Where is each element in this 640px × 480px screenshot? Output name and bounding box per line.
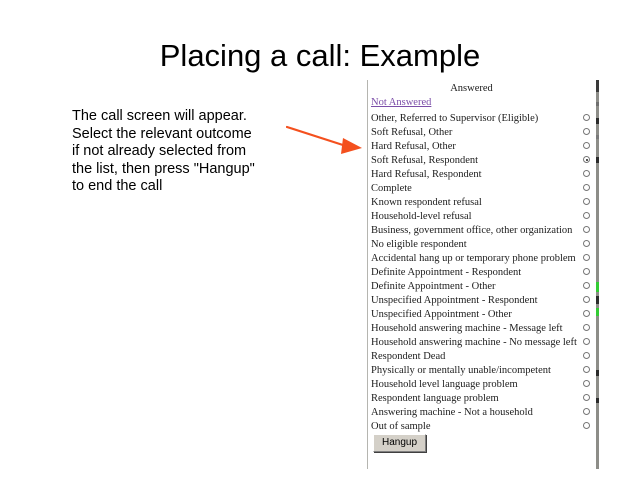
outcome-row[interactable]: Respondent language problem: [368, 390, 597, 404]
outcome-row[interactable]: Answering machine - Not a household: [368, 404, 597, 418]
outcome-radio-button[interactable]: [583, 114, 590, 121]
scrollbar-mark: [596, 118, 599, 124]
outcome-radio-button[interactable]: [583, 170, 590, 177]
outcome-row[interactable]: Soft Refusal, Respondent: [368, 152, 597, 166]
outcome-row[interactable]: Household answering machine - Message le…: [368, 320, 597, 334]
outcome-row[interactable]: Household-level refusal: [368, 208, 597, 222]
outcome-row[interactable]: Known respondent refusal: [368, 194, 597, 208]
outcome-label: Definite Appointment - Respondent: [371, 267, 521, 278]
outcome-radio-button[interactable]: [583, 296, 590, 303]
outcome-row[interactable]: Household answering machine - No message…: [368, 334, 597, 348]
outcome-radio-button[interactable]: [583, 408, 590, 415]
outcome-row[interactable]: Hard Refusal, Respondent: [368, 166, 597, 180]
outcome-radio-button[interactable]: [583, 128, 590, 135]
outcome-label: Household level language problem: [371, 379, 518, 390]
outcome-row[interactable]: Physically or mentally unable/incompeten…: [368, 362, 597, 376]
outcome-label: Hard Refusal, Respondent: [371, 169, 482, 180]
outcome-row[interactable]: Other, Referred to Supervisor (Eligible): [368, 110, 597, 124]
outcome-row[interactable]: Unspecified Appointment - Respondent: [368, 292, 597, 306]
outcome-row[interactable]: Respondent Dead: [368, 348, 597, 362]
outcome-row[interactable]: Out of sample: [368, 418, 597, 432]
outcome-label: Known respondent refusal: [371, 197, 482, 208]
call-outcome-screen: Answered Not Answered Other, Referred to…: [367, 80, 598, 469]
outcome-radio-button[interactable]: [583, 282, 590, 289]
outcome-label: Unspecified Appointment - Other: [371, 309, 512, 320]
outcome-label: No eligible respondent: [371, 239, 467, 250]
outcome-label: Hard Refusal, Other: [371, 141, 456, 152]
slide-canvas: Placing a call: Example The call screen …: [0, 0, 640, 480]
outcome-label: Business, government office, other organ…: [371, 225, 572, 236]
outcome-label: Out of sample: [371, 421, 431, 432]
outcome-label: Physically or mentally unable/incompeten…: [371, 365, 551, 376]
outcome-row[interactable]: Definite Appointment - Other: [368, 278, 597, 292]
instruction-text: The call screen will appear. Select the …: [72, 108, 284, 196]
outcome-label: Definite Appointment - Other: [371, 281, 496, 292]
outcome-row[interactable]: Accidental hang up or temporary phone pr…: [368, 250, 597, 264]
outcome-list: Other, Referred to Supervisor (Eligible)…: [368, 110, 597, 432]
capture-scrollbar[interactable]: [596, 80, 599, 469]
outcome-label: Household answering machine - No message…: [371, 337, 577, 348]
outcome-radio-button[interactable]: [583, 226, 590, 233]
outcome-label: Soft Refusal, Respondent: [371, 155, 478, 166]
outcome-label: Household-level refusal: [371, 211, 472, 222]
page-title: Placing a call: Example: [0, 38, 640, 74]
outcome-label: Respondent Dead: [371, 351, 445, 362]
outcome-radio-button[interactable]: [583, 156, 590, 163]
outcome-row[interactable]: Unspecified Appointment - Other: [368, 306, 597, 320]
outcome-radio-button[interactable]: [583, 212, 590, 219]
outcome-row[interactable]: Household level language problem: [368, 376, 597, 390]
answered-section-header: Answered: [368, 82, 597, 95]
outcome-radio-button[interactable]: [583, 338, 590, 345]
outcome-row[interactable]: Definite Appointment - Respondent: [368, 264, 597, 278]
outcome-label: Other, Referred to Supervisor (Eligible): [371, 113, 538, 124]
outcome-radio-button[interactable]: [583, 380, 590, 387]
instruction-line: Select the relevant outcome: [72, 126, 284, 144]
outcome-radio-button[interactable]: [583, 240, 590, 247]
outcome-radio-button[interactable]: [583, 268, 590, 275]
outcome-radio-button[interactable]: [583, 352, 590, 359]
outcome-radio-button[interactable]: [583, 394, 590, 401]
outcome-label: Answering machine - Not a household: [371, 407, 533, 418]
outcome-radio-button[interactable]: [583, 198, 590, 205]
outcome-row[interactable]: No eligible respondent: [368, 236, 597, 250]
outcome-radio-button[interactable]: [583, 254, 590, 261]
scrollbar-mark: [596, 308, 599, 316]
outcome-radio-button[interactable]: [583, 184, 590, 191]
scrollbar-mark: [596, 157, 599, 163]
outcome-label: Accidental hang up or temporary phone pr…: [371, 253, 576, 264]
outcome-label: Unspecified Appointment - Respondent: [371, 295, 538, 306]
outcome-label: Soft Refusal, Other: [371, 127, 452, 138]
outcome-row[interactable]: Complete: [368, 180, 597, 194]
outcome-radio-button[interactable]: [583, 142, 590, 149]
outcome-radio-button[interactable]: [583, 324, 590, 331]
pointer-arrow-icon: [286, 124, 364, 160]
instruction-line: to end the call: [72, 178, 284, 196]
instruction-line: if not already selected from: [72, 143, 284, 161]
scrollbar-mark: [596, 80, 599, 92]
scrollbar-mark: [596, 370, 599, 376]
not-answered-link[interactable]: Not Answered: [371, 96, 431, 109]
instruction-line: The call screen will appear.: [72, 108, 284, 126]
instruction-line: the list, then press "Hangup": [72, 161, 284, 179]
outcome-radio-button[interactable]: [583, 310, 590, 317]
outcome-row[interactable]: Soft Refusal, Other: [368, 124, 597, 138]
outcome-row[interactable]: Business, government office, other organ…: [368, 222, 597, 236]
hangup-button[interactable]: Hangup: [373, 434, 426, 452]
outcome-label: Respondent language problem: [371, 393, 499, 404]
scrollbar-mark: [596, 282, 599, 292]
outcome-label: Household answering machine - Message le…: [371, 323, 563, 334]
scrollbar-mark: [596, 102, 599, 106]
outcome-label: Complete: [371, 183, 412, 194]
scrollbar-mark: [596, 296, 599, 304]
outcome-radio-button[interactable]: [583, 422, 590, 429]
outcome-radio-button[interactable]: [583, 366, 590, 373]
scrollbar-mark: [596, 135, 599, 139]
scrollbar-mark: [596, 398, 599, 403]
outcome-row[interactable]: Hard Refusal, Other: [368, 138, 597, 152]
